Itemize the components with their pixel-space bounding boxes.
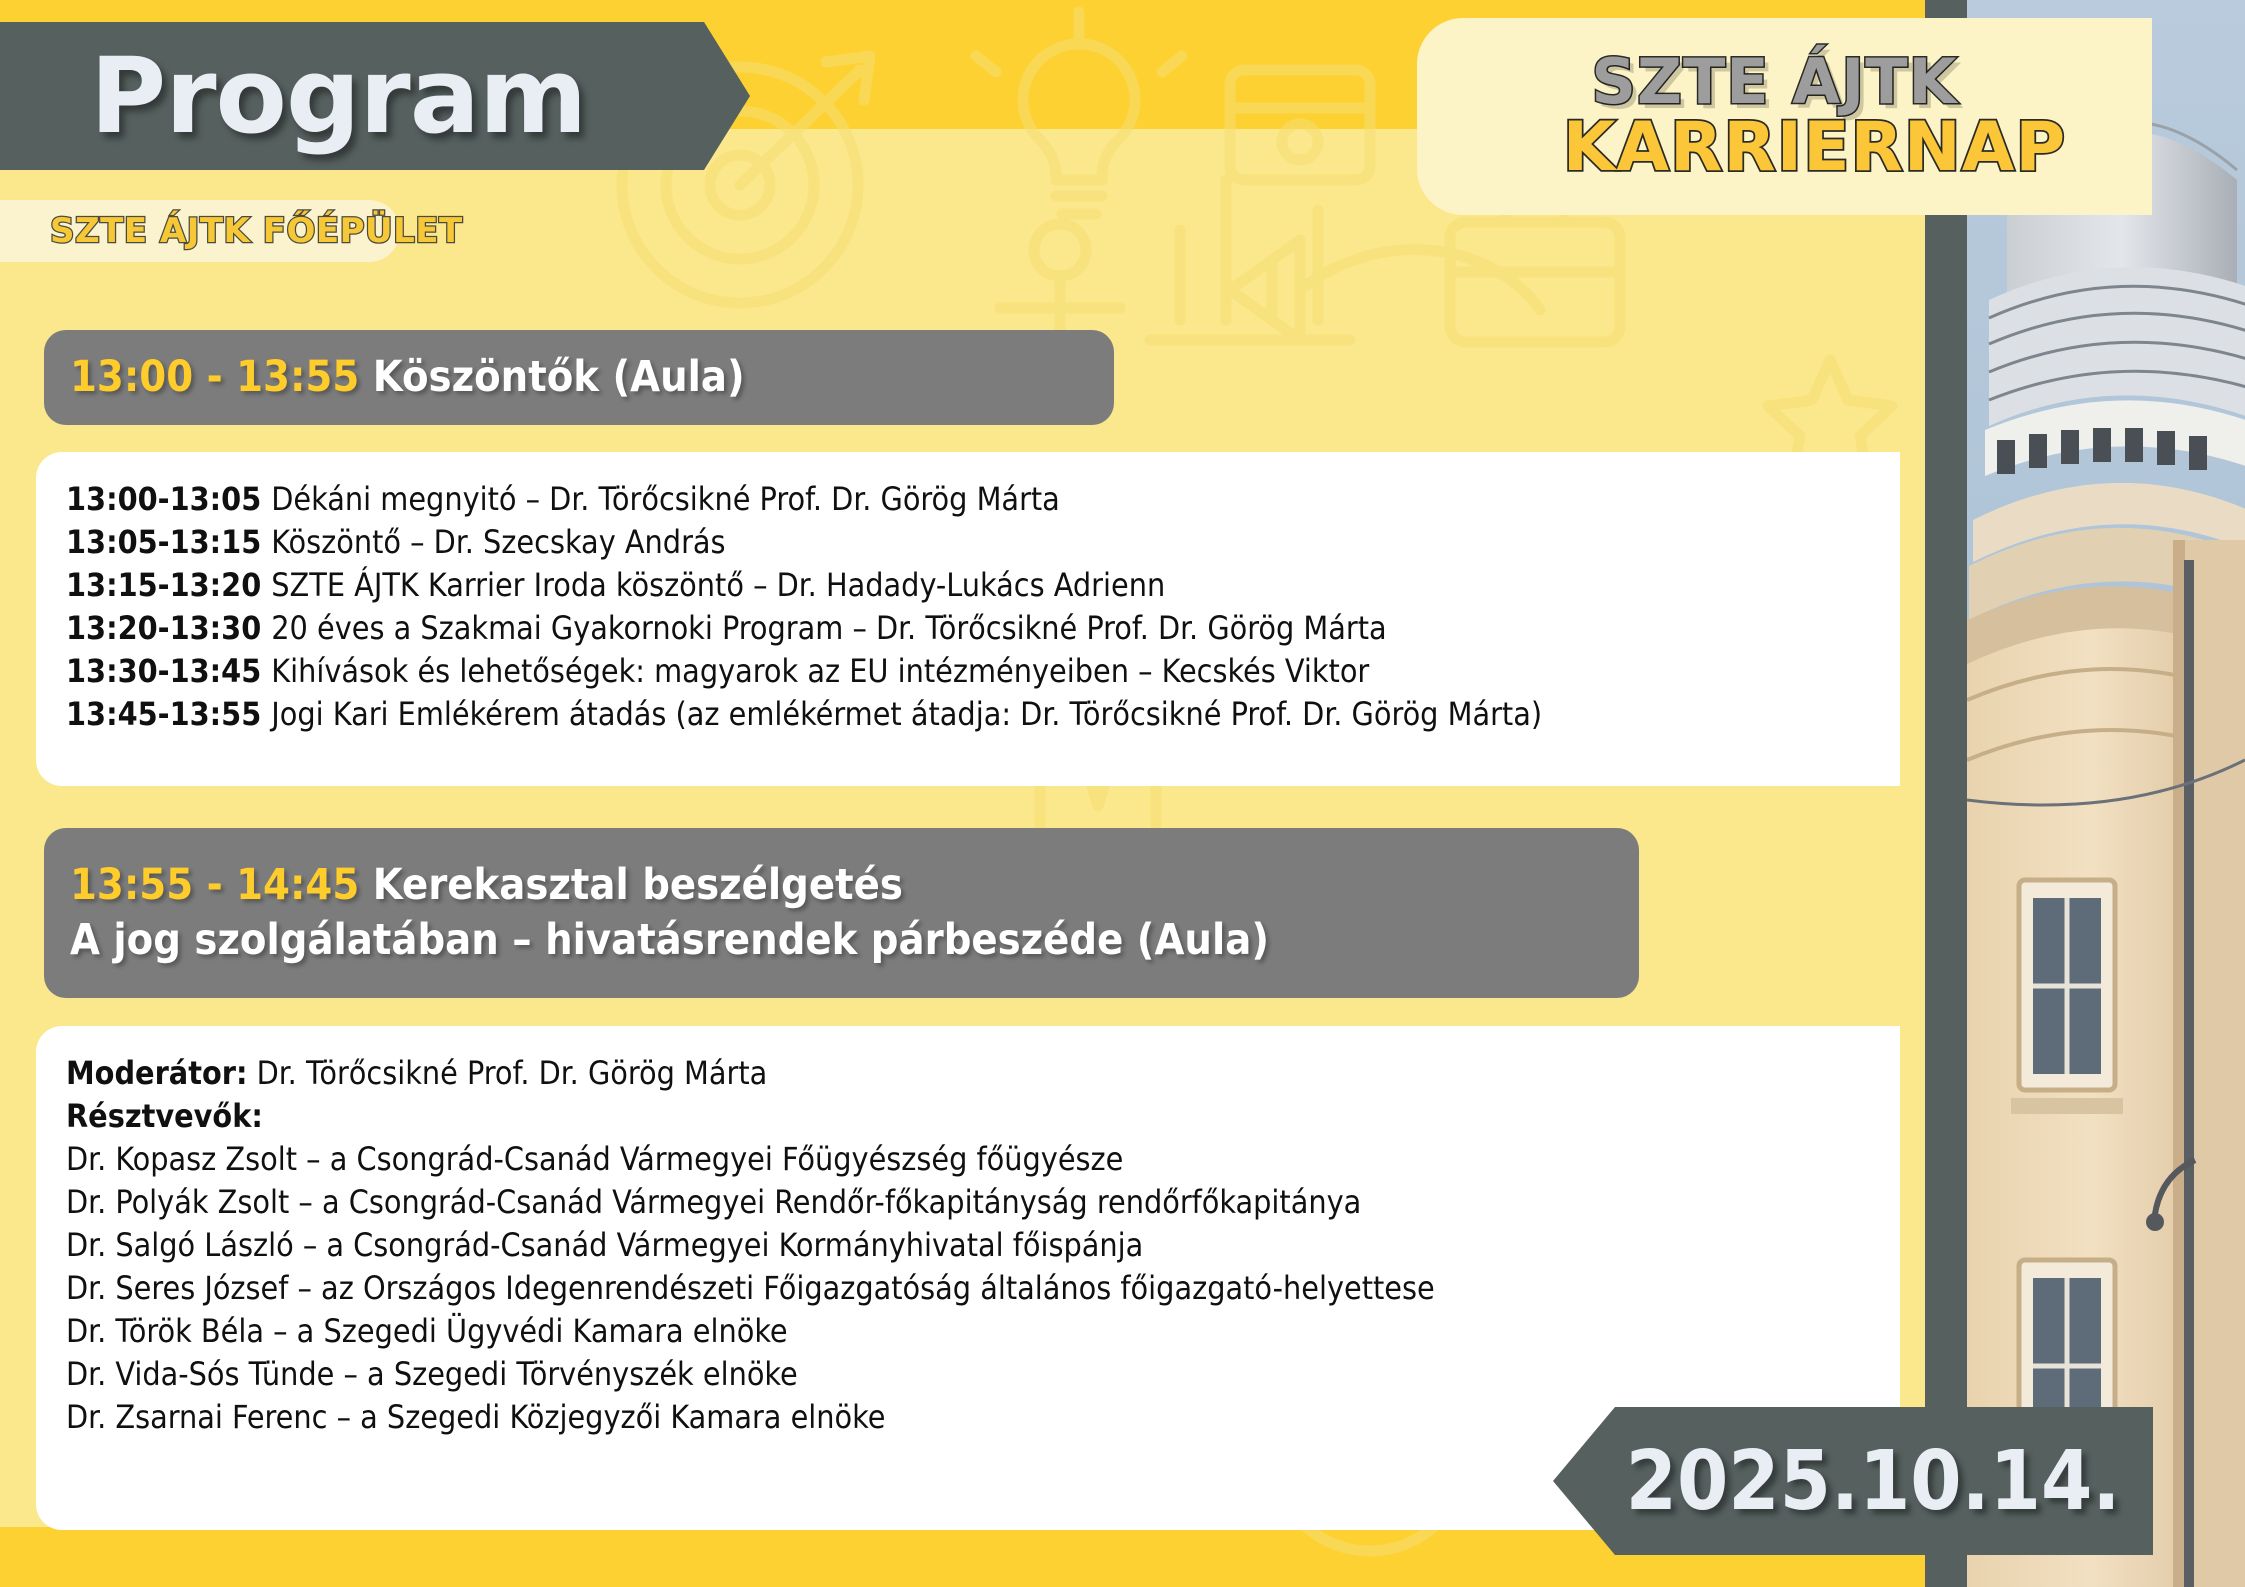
moderator-label: Moderátor:: [66, 1054, 247, 1092]
moderator-row: Moderátor: Dr. Törőcsikné Prof. Dr. Görö…: [66, 1052, 1870, 1095]
logo-event-name: KARRIERNAP: [1417, 113, 2152, 183]
schedule-row-text: SZTE ÁJTK Karrier Iroda köszöntő – Dr. H…: [271, 566, 1165, 604]
schedule-row: 13:30-13:45Kihívások és lehetőségek: mag…: [66, 650, 1870, 693]
event-logo: SZTE ÁJTK KARRIERNAP: [1417, 18, 2152, 215]
schedule-row-text: 20 éves a Szakmai Gyakornoki Program – D…: [271, 609, 1386, 647]
venue-subtitle-pill: SZTE ÁJTK FŐÉPÜLET: [0, 200, 400, 262]
participant-row: Dr. Kopasz Zsolt – a Csongrád-Csanád Vár…: [66, 1138, 1870, 1181]
schedule-row-time: 13:05-13:15: [66, 523, 261, 561]
participant-row: Dr. Polyák Zsolt – a Csongrád-Csanád Vár…: [66, 1181, 1870, 1224]
schedule-row-time: 13:20-13:30: [66, 609, 261, 647]
schedule-row-text: Kihívások és lehetőségek: magyarok az EU…: [271, 652, 1369, 690]
page-title: Program: [90, 35, 586, 157]
venue-subtitle: SZTE ÁJTK FŐÉPÜLET: [50, 211, 463, 251]
schedule-row: 13:00-13:05Dékáni megnyitó – Dr. Törőcsi…: [66, 478, 1870, 521]
session-1-title-line: 13:00 - 13:55 Köszöntők (Aula): [70, 350, 1114, 405]
building-photo: [1967, 0, 2245, 1587]
photo-gutter-stripe: [1925, 0, 1967, 1587]
logo-institution: SZTE ÁJTK: [1417, 50, 2152, 114]
session-1-time: 13:00 - 13:55: [70, 352, 359, 402]
session-header-1: 13:00 - 13:55 Köszöntők (Aula): [44, 330, 1114, 425]
participants-label-row: Résztvevők:: [66, 1095, 1870, 1138]
session-2-title-line: 13:55 - 14:45 Kerekasztal beszélgetés: [70, 858, 1639, 913]
session-1-title: Köszöntők (Aula): [373, 352, 745, 402]
participant-row: Dr. Vida-Sós Tünde – a Szegedi Törvénysz…: [66, 1353, 1870, 1396]
poster-canvas: Program SZTE ÁJTK FŐÉPÜLET SZTE ÁJTK KAR…: [0, 0, 2245, 1587]
participant-row: Dr. Seres József – az Országos Idegenren…: [66, 1267, 1870, 1310]
schedule-row: 13:15-13:20SZTE ÁJTK Karrier Iroda köszö…: [66, 564, 1870, 607]
participant-row: Dr. Török Béla – a Szegedi Ügyvédi Kamar…: [66, 1310, 1870, 1353]
schedule-row-text: Dékáni megnyitó – Dr. Törőcsikné Prof. D…: [271, 480, 1060, 518]
schedule-row: 13:45-13:55Jogi Kari Emlékérem átadás (a…: [66, 693, 1870, 736]
session-2-subtitle: A jog szolgálatában – hivatásrendek párb…: [70, 913, 1639, 968]
schedule-row-time: 13:30-13:45: [66, 652, 261, 690]
participant-row: Dr. Salgó László – a Csongrád-Csanád Vár…: [66, 1224, 1870, 1267]
event-date: 2025.10.14.: [1586, 1434, 2121, 1529]
session-1-card: 13:00-13:05Dékáni megnyitó – Dr. Törőcsi…: [36, 452, 1900, 786]
participants-label: Résztvevők:: [66, 1097, 263, 1135]
moderator-name: Dr. Törőcsikné Prof. Dr. Görög Márta: [247, 1054, 767, 1092]
session-2-title: Kerekasztal beszélgetés: [373, 860, 903, 910]
program-title-banner: Program: [0, 22, 750, 170]
schedule-row: 13:20-13:3020 éves a Szakmai Gyakornoki …: [66, 607, 1870, 650]
schedule-row-text: Jogi Kari Emlékérem átadás (az emlékérme…: [271, 695, 1542, 733]
schedule-row-text: Köszöntő – Dr. Szecskay András: [271, 523, 725, 561]
schedule-row-time: 13:00-13:05: [66, 480, 261, 518]
session-header-2: 13:55 - 14:45 Kerekasztal beszélgetés A …: [44, 828, 1639, 998]
session-2-time: 13:55 - 14:45: [70, 860, 359, 910]
schedule-row-time: 13:45-13:55: [66, 695, 261, 733]
schedule-row: 13:05-13:15Köszöntő – Dr. Szecskay Andrá…: [66, 521, 1870, 564]
schedule-row-time: 13:15-13:20: [66, 566, 261, 604]
event-date-banner: 2025.10.14.: [1553, 1407, 2153, 1555]
